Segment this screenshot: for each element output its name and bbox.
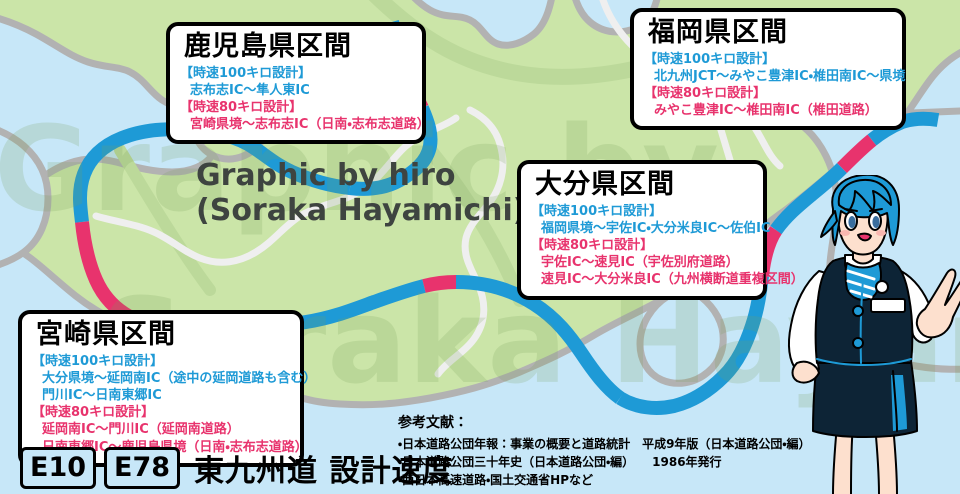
reference-item: ・日本道路公団年報：事業の概要と道路統計 平成9年版（日本道路公団・編）	[398, 435, 811, 453]
references-block: 参考文献： ・日本道路公団年報：事業の概要と道路統計 平成9年版（日本道路公団・…	[398, 412, 811, 489]
info-line: 【時速80キロ設計】	[32, 404, 290, 421]
route-shield-e78: E78	[104, 447, 180, 489]
mascot-name-badge	[871, 299, 905, 312]
info-line: 【時速80キロ設計】	[644, 85, 892, 102]
info-line: 宇佐IC～速見IC（宇佐別府道路）	[531, 254, 753, 271]
infographic-canvas: Graphic by Soraka Hayamichi Graphic by h…	[0, 0, 960, 494]
reference-item: ・西日本高速道路・国土交通省HPなど	[398, 471, 811, 489]
mascot-mouth	[858, 234, 871, 241]
info-line: 【時速100キロ設計】	[644, 51, 892, 68]
bottom-title-bar: E10 E78 東九州道 設計速度	[20, 446, 454, 490]
info-line: 門川IC～日南東郷IC	[32, 387, 290, 404]
route-pink-south-1	[424, 282, 456, 286]
info-line: 志布志IC～隼人東IC	[180, 82, 412, 99]
info-line: 宮崎県境～志布志IC（日南・志布志道路）	[180, 116, 412, 133]
info-line: 速見IC～大分米良IC（九州横断道重複区間）	[531, 271, 753, 288]
info-box-title: 鹿児島県区間	[184, 31, 412, 63]
info-line: 【時速80キロ設計】	[531, 237, 753, 254]
info-line: 福岡県境～宇佐IC・大分米良IC～佐伯IC	[531, 220, 753, 237]
info-box-oita: 大分県区間 【時速100キロ設計】 福岡県境～宇佐IC・大分米良IC～佐伯IC …	[517, 160, 767, 300]
info-line: 【時速100キロ設計】	[32, 353, 290, 370]
references-heading: 参考文献：	[398, 412, 811, 432]
mascot-pupil-right	[872, 216, 879, 228]
info-box-title: 宮崎県区間	[36, 319, 290, 351]
highway-mascot-illustration	[775, 175, 960, 494]
info-line: 【時速100キロ設計】	[180, 65, 412, 82]
mascot-blush-left	[840, 230, 850, 236]
info-box-kagoshima: 鹿児島県区間 【時速100キロ設計】 志布志IC～隼人東IC 【時速80キロ設計…	[166, 22, 426, 144]
mascot-blush-right	[876, 230, 886, 236]
info-line: 大分県境～延岡南IC（途中の延岡道路も含む）	[32, 370, 290, 387]
info-box-title: 大分県区間	[535, 169, 753, 201]
mascot-pupil-left	[848, 216, 855, 228]
graphic-credit: Graphic by hiro (Soraka Hayamichi).	[196, 158, 538, 229]
info-line: 【時速80キロ設計】	[180, 99, 412, 116]
info-line: 北九州JCT～みやこ豊津IC・椎田南IC～県境	[644, 68, 892, 85]
info-line: 延岡南IC～門川IC（延岡南道路）	[32, 421, 290, 438]
info-box-title: 福岡県区間	[648, 17, 892, 49]
info-line: みやこ豊津IC～椎田南IC（椎田道路）	[644, 102, 892, 119]
info-line: 【時速100キロ設計】	[531, 203, 753, 220]
route-shield-e10: E10	[20, 447, 96, 489]
mascot-lapel-pin	[876, 281, 888, 293]
mascot-button-upper	[853, 306, 863, 316]
info-box-fukuoka: 福岡県区間 【時速100キロ設計】 北九州JCT～みやこ豊津IC・椎田南IC～県…	[630, 8, 906, 130]
mascot-button-lower	[853, 338, 863, 348]
reference-item: ・日本道路公団三十年史（日本道路公団・編） 1986年発行	[398, 453, 811, 471]
info-box-miyazaki: 宮崎県区間 【時速100キロ設計】 大分県境～延岡南IC（途中の延岡道路も含む）…	[18, 310, 304, 467]
